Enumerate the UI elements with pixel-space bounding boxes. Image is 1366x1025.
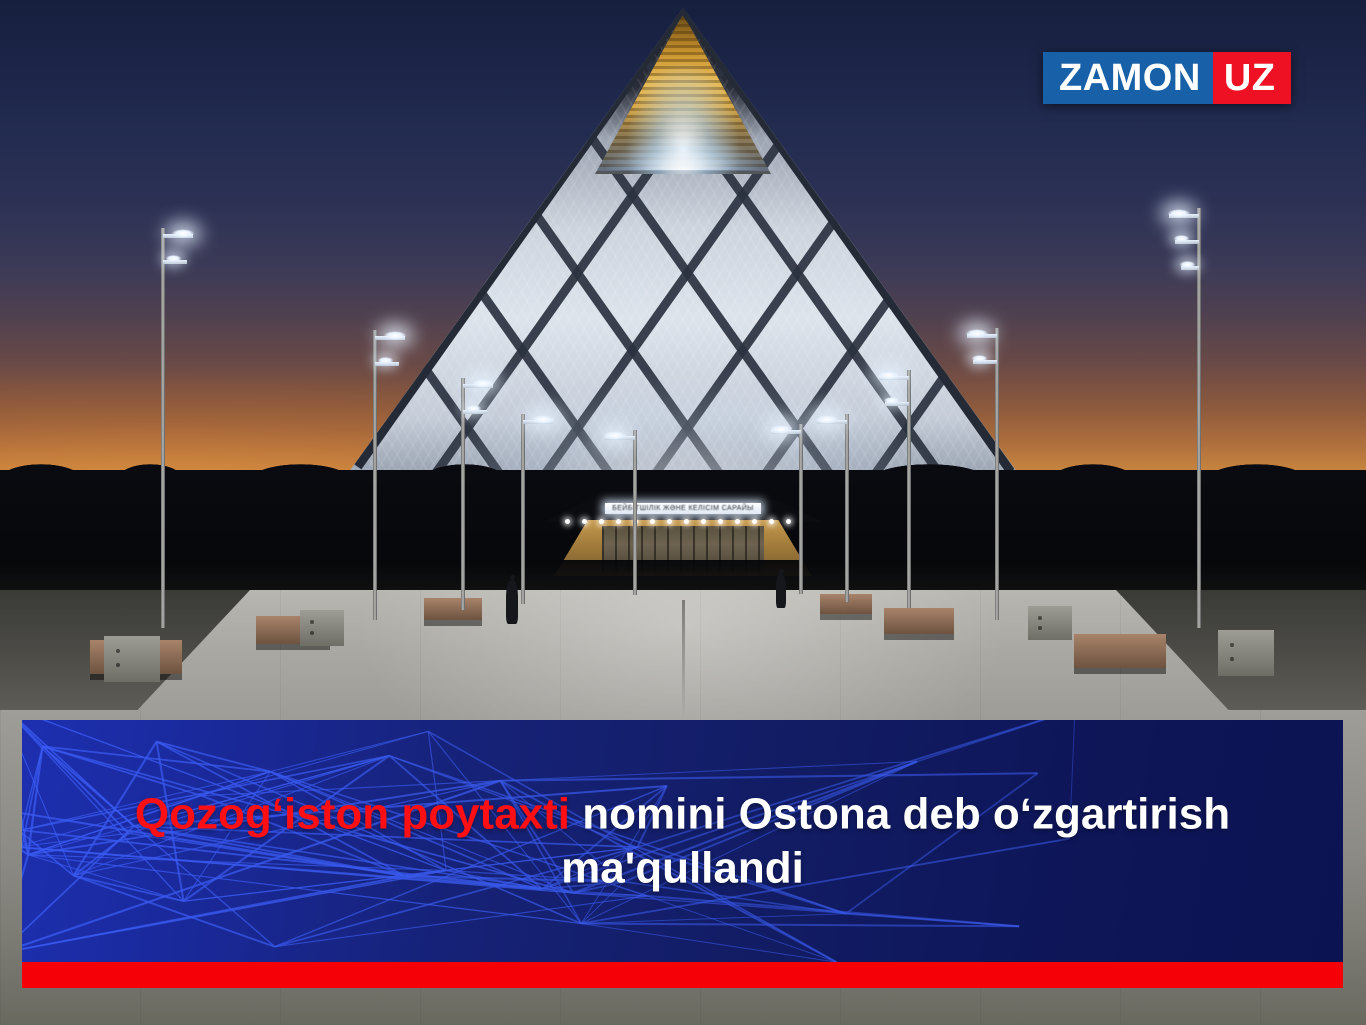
- headline-rest: nomini Ostona deb o‘zgartirish ma'qullan…: [561, 789, 1230, 892]
- lamp-head: [466, 405, 481, 412]
- zamon-uz-logo[interactable]: ZAMON UZ: [1043, 52, 1291, 104]
- lamp-head: [816, 415, 838, 424]
- lamp-pole: [373, 330, 377, 620]
- palace-pyramid: [323, 8, 1043, 508]
- lamp-center-left: [612, 430, 658, 595]
- news-card-canvas: БЕЙБІТШІЛІК ЖӘНЕ КЕЛІСІМ САРАЙЫ ZAMON UZ…: [0, 0, 1366, 1025]
- lamp-far-right: [1176, 208, 1222, 628]
- lamp-right-inner: [886, 370, 932, 608]
- lamp-head: [166, 255, 181, 262]
- logo-secondary-text: UZ: [1224, 59, 1276, 97]
- headline-highlight: Qozog‘iston poytaxti: [135, 789, 570, 838]
- lamp-pole: [995, 328, 999, 620]
- logo-primary-text: ZAMON: [1059, 59, 1201, 97]
- lamp-head: [878, 371, 900, 380]
- lamp-head: [172, 229, 194, 238]
- person-right-standing: [776, 574, 786, 608]
- lamp-right-near: [824, 414, 870, 602]
- lamp-head: [472, 379, 494, 388]
- entrance-downlights: [565, 519, 800, 527]
- person-left-walking: [506, 580, 518, 624]
- lamp-left-mid: [352, 330, 398, 620]
- planter-left-1: [104, 636, 160, 682]
- planter-right-1: [1218, 630, 1274, 676]
- planter-left-2: [300, 610, 344, 646]
- logo-red-block: UZ: [1213, 52, 1292, 104]
- lamp-left-near: [500, 414, 546, 604]
- lamp-head: [384, 331, 406, 340]
- lamp-pole: [161, 228, 165, 628]
- lamp-head: [1180, 261, 1195, 268]
- lamp-head: [532, 415, 554, 424]
- lamp-center-right: [778, 424, 824, 594]
- lamp-head: [884, 397, 899, 404]
- lamp-pole: [633, 430, 637, 595]
- plaza-centerline: [682, 600, 685, 720]
- accent-bar: [22, 962, 1343, 988]
- lamp-head: [1174, 235, 1189, 242]
- lamp-head: [770, 425, 792, 434]
- headline-banner: Qozog‘iston poytaxti nomini Ostona deb o…: [22, 720, 1343, 962]
- lamp-head: [378, 357, 393, 364]
- logo-blue-block: ZAMON: [1043, 52, 1213, 104]
- lamp-left-inner: [440, 378, 486, 610]
- planter-right-2: [1028, 606, 1072, 640]
- lamp-head: [1168, 209, 1190, 218]
- lamp-pole: [521, 414, 525, 604]
- lamp-head: [604, 431, 626, 440]
- lamp-pole: [845, 414, 849, 602]
- headline-text: Qozog‘iston poytaxti nomini Ostona deb o…: [22, 787, 1343, 894]
- lamp-far-left: [140, 228, 186, 628]
- lamp-head: [966, 329, 988, 338]
- bench-right-2: [884, 608, 954, 634]
- bench-right-1: [1074, 634, 1166, 668]
- lamp-head: [972, 355, 987, 362]
- lamp-pole: [799, 424, 803, 594]
- lamp-right-mid: [974, 328, 1020, 620]
- lamp-pole: [1197, 208, 1201, 628]
